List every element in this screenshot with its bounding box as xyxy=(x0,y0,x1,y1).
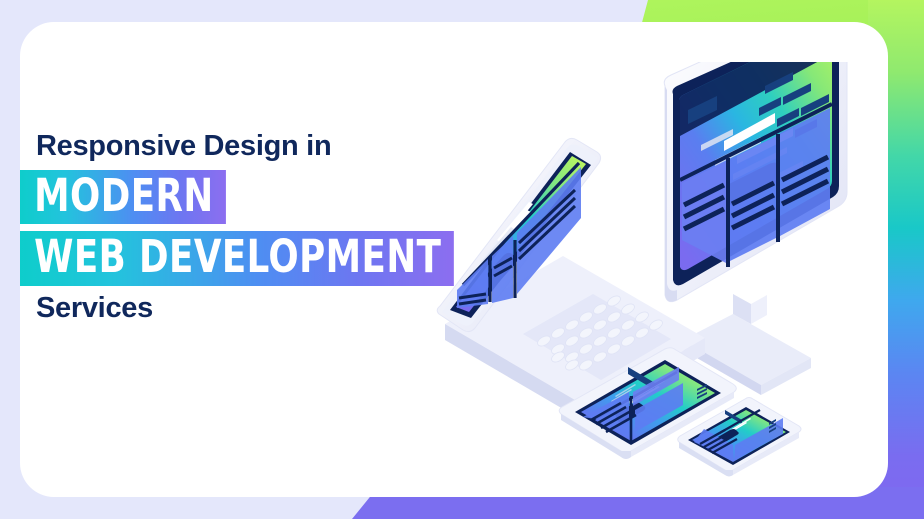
content-card: Responsive Design in MODERN WEB DEVELOPM… xyxy=(20,22,888,497)
headline-block: Responsive Design in MODERN WEB DEVELOPM… xyxy=(20,132,450,323)
headline-highlight-2: WEB DEVELOPMENT xyxy=(20,231,454,285)
headline-highlight-1-wrap: MODERN xyxy=(20,170,450,224)
headline-line-2: Services xyxy=(20,294,450,323)
headline-highlight-1: MODERN xyxy=(20,170,226,224)
headline-line-1: Responsive Design in xyxy=(20,132,450,161)
isometric-devices-illustration xyxy=(415,62,888,482)
headline-highlight-2-wrap: WEB DEVELOPMENT xyxy=(20,231,450,285)
banner-stage: Responsive Design in MODERN WEB DEVELOPM… xyxy=(0,0,924,519)
